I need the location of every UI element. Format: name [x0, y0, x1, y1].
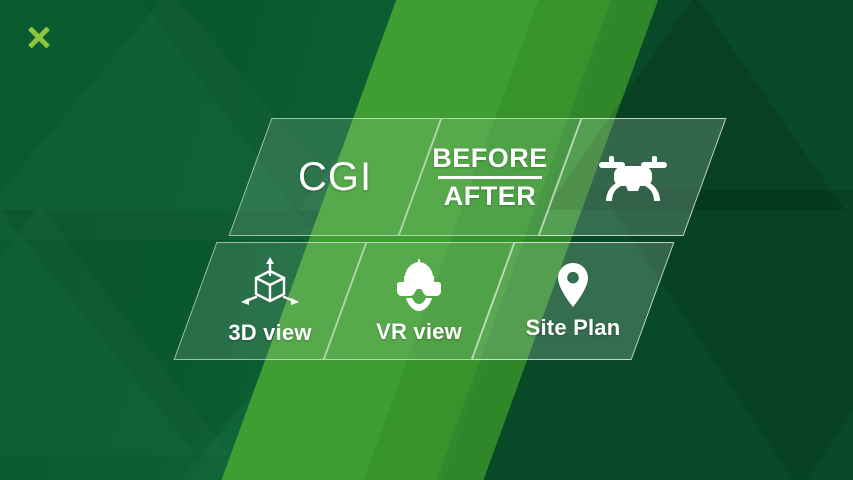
drone-icon — [593, 149, 673, 205]
before-after-divider — [438, 176, 542, 179]
tile-3d-view-label: 3D view — [228, 320, 311, 346]
cube-3d-axes-icon — [239, 257, 301, 320]
tile-vr-view-label: VR view — [376, 319, 462, 345]
tile-site-plan-label: Site Plan — [526, 315, 621, 341]
tile-grid: CGI BEFORE AFTER — [0, 0, 853, 480]
vr-headset-head-icon — [394, 258, 444, 319]
tile-cgi-label: CGI — [298, 155, 372, 200]
tile-before-label: BEFORE — [432, 144, 548, 172]
tile-after-label: AFTER — [444, 182, 537, 210]
map-pin-icon — [556, 262, 590, 315]
visualisation-menu-screen: CGI BEFORE AFTER — [0, 0, 853, 480]
